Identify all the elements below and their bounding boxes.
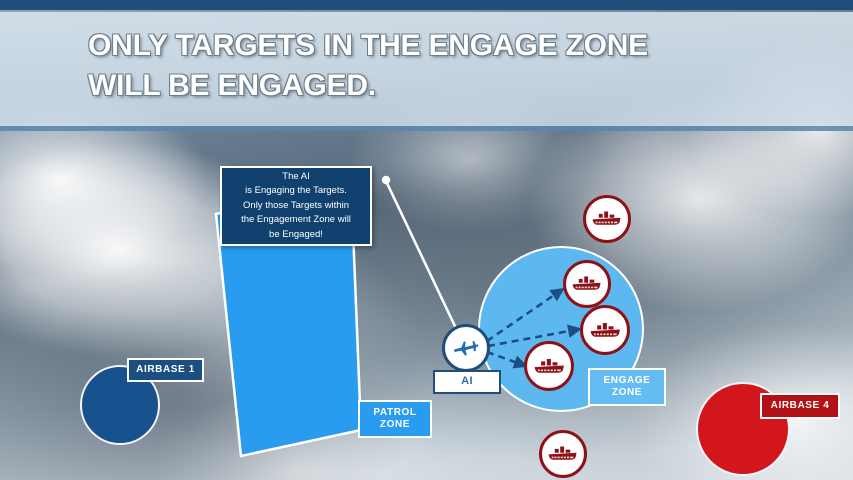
warship-icon <box>547 438 578 469</box>
target-marker-2[interactable] <box>580 305 630 355</box>
ai-status-callout: The AI is Engaging the Targets. Only tho… <box>220 166 372 246</box>
target-marker-4[interactable] <box>583 195 631 243</box>
ai-aircraft-marker[interactable] <box>442 324 490 372</box>
target-marker-3[interactable] <box>524 341 574 391</box>
airbase-4-label[interactable]: AIRBASE 4 <box>760 393 840 419</box>
fighter-jet-icon <box>451 333 481 363</box>
engage-zone-label[interactable]: ENGAGE ZONE <box>588 368 666 406</box>
target-marker-1[interactable] <box>563 260 611 308</box>
warship-icon <box>533 350 566 383</box>
slide-canvas: ONLY TARGETS IN THE ENGAGE ZONE WILL BE … <box>0 0 853 480</box>
slide-title: ONLY TARGETS IN THE ENGAGE ZONE WILL BE … <box>88 26 828 106</box>
ai-unit-label[interactable]: AI <box>433 370 501 394</box>
title-band-edge <box>0 126 853 131</box>
top-accent-bar <box>0 0 853 10</box>
warship-icon <box>591 203 622 234</box>
warship-icon <box>589 314 622 347</box>
target-marker-5[interactable] <box>539 430 587 478</box>
warship-icon <box>571 268 602 299</box>
patrol-zone-label[interactable]: PATROL ZONE <box>358 400 432 438</box>
airbase-1-label[interactable]: AIRBASE 1 <box>127 358 204 382</box>
